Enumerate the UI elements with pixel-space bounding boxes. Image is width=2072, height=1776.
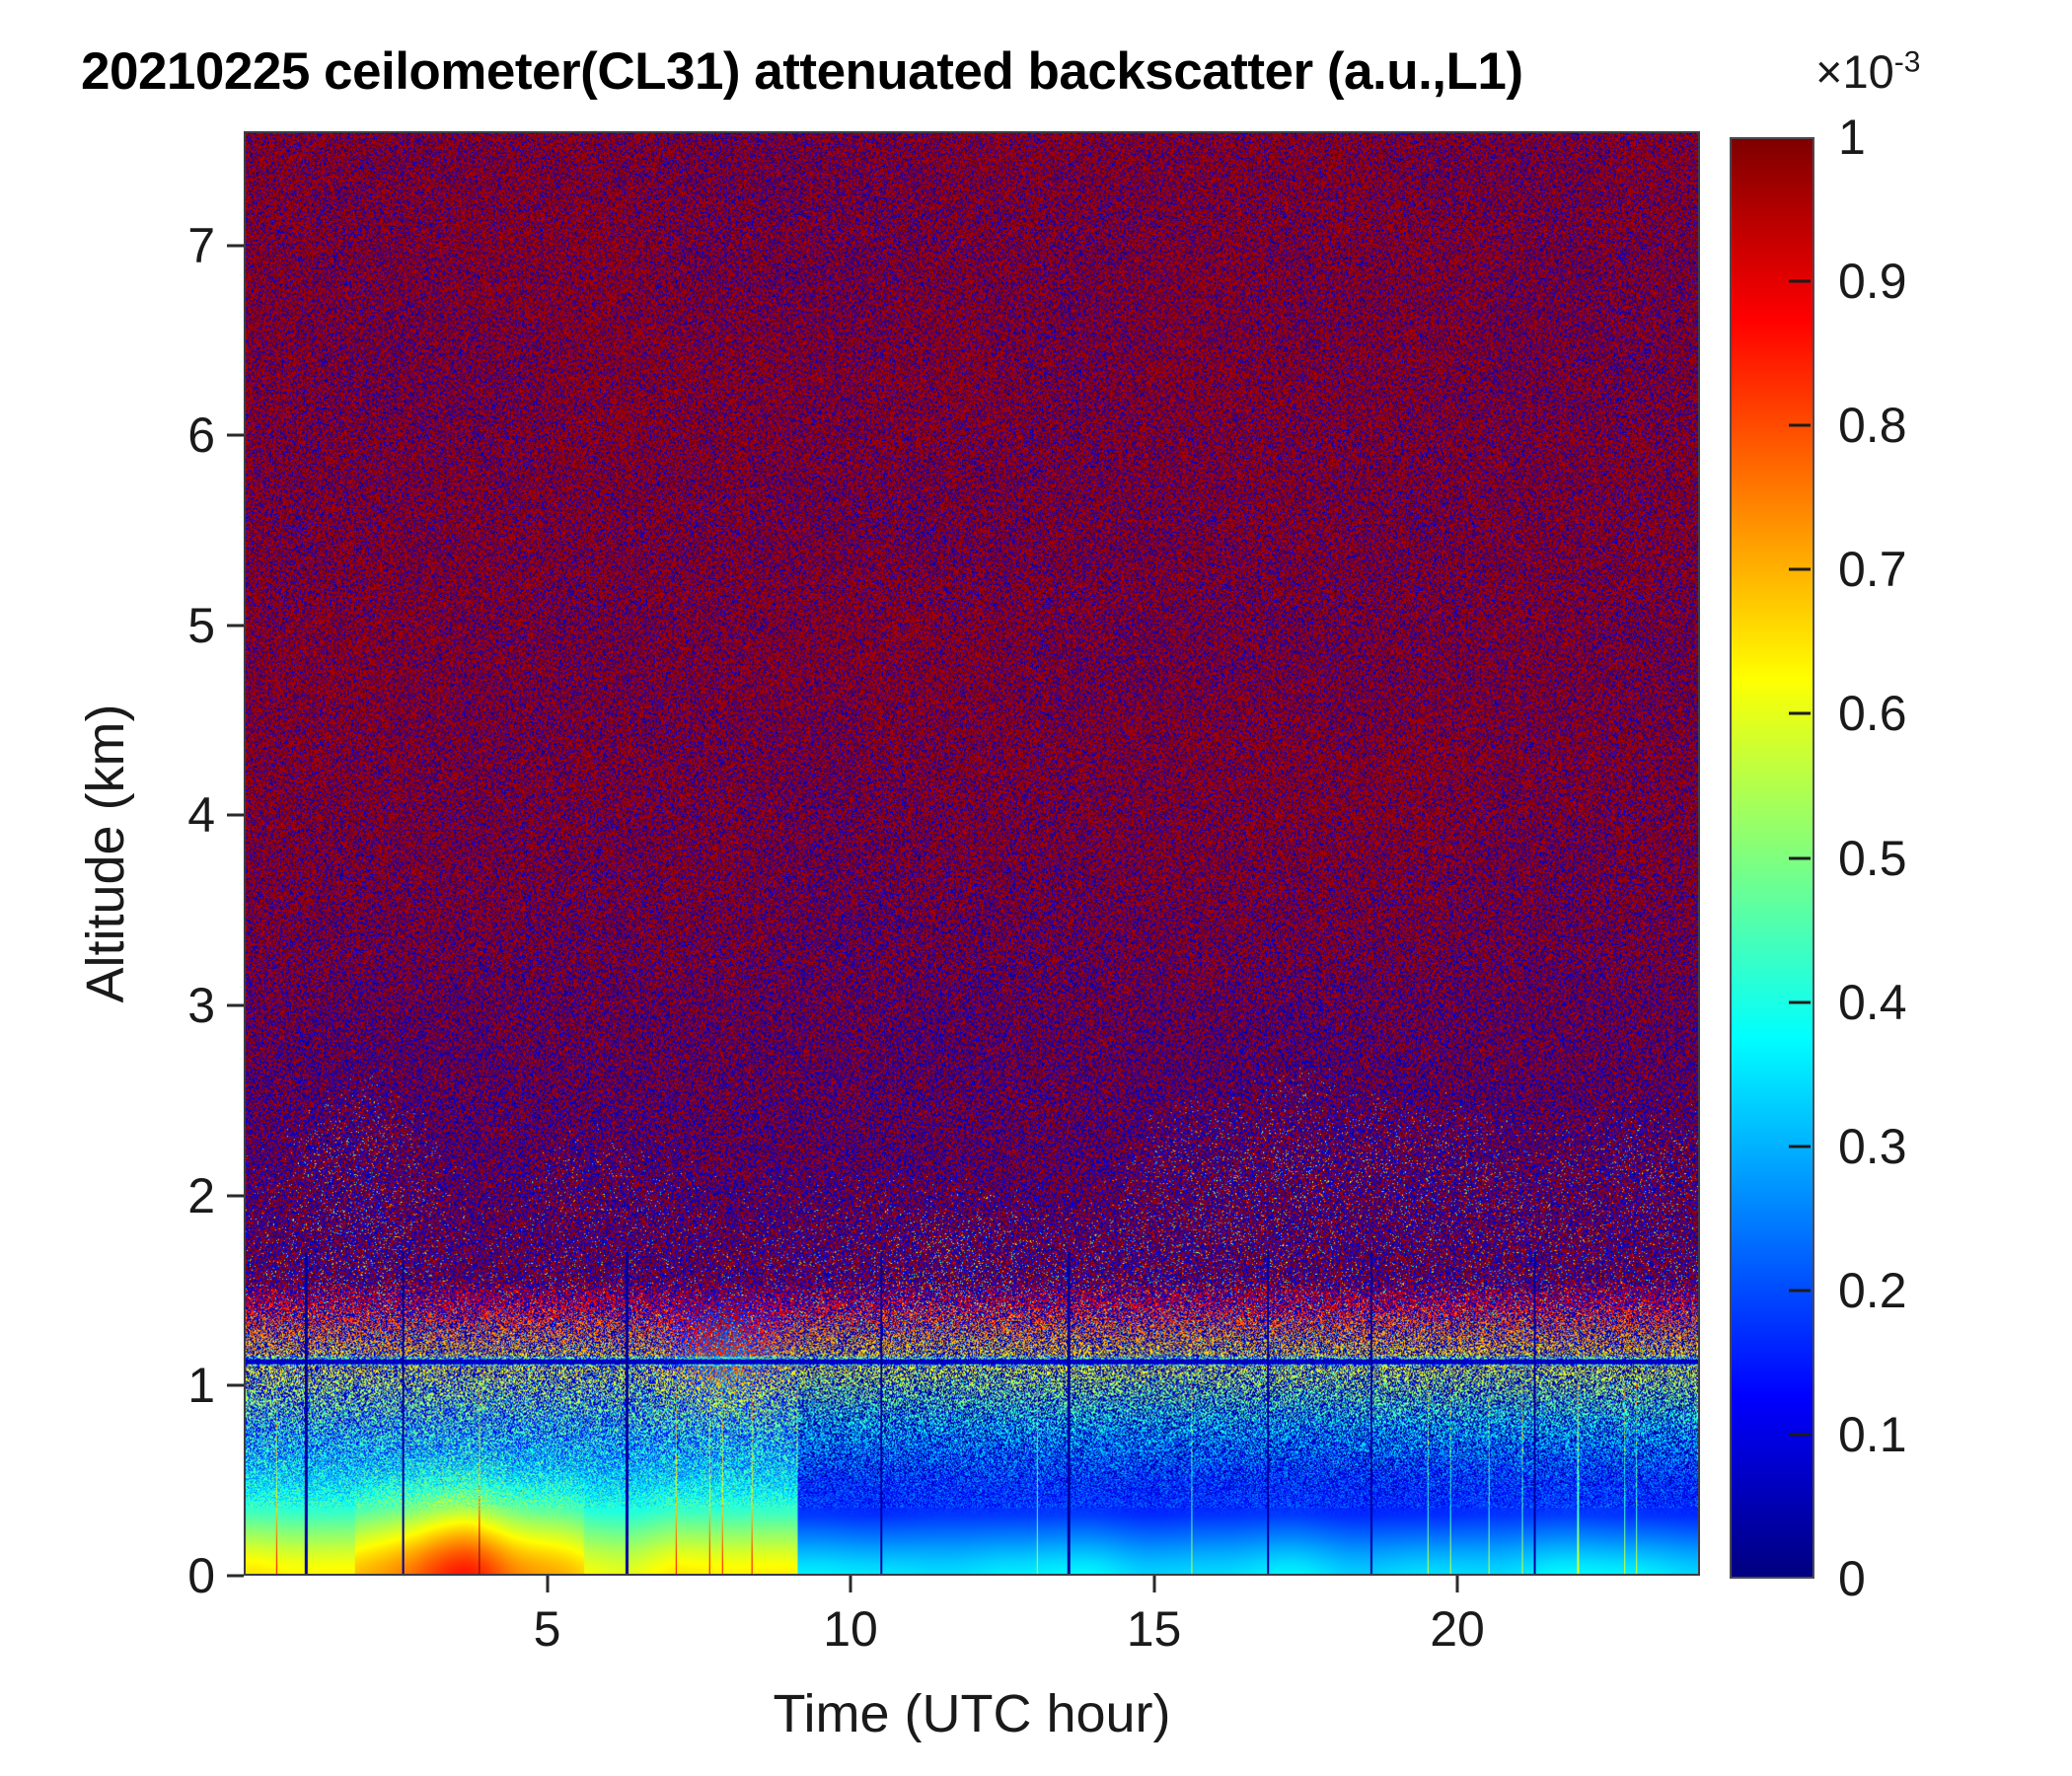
x-tick-label: 10 xyxy=(823,1600,878,1658)
y-tick-label: 0 xyxy=(187,1547,215,1604)
colorbar-tick-label: 0.8 xyxy=(1838,397,1907,454)
colorbar-tick-label: 0.5 xyxy=(1838,830,1907,887)
colorbar-tick-mark xyxy=(1789,1145,1811,1147)
backscatter-heatmap xyxy=(246,133,1698,1574)
colorbar-tick-label: 0.6 xyxy=(1838,685,1907,742)
y-tick-mark xyxy=(227,814,244,817)
colorbar-tick-label: 1 xyxy=(1838,109,1866,166)
colorbar-tick-label: 0 xyxy=(1838,1550,1866,1607)
colorbar-tick-label: 0.7 xyxy=(1838,541,1907,598)
colorbar-tick-mark xyxy=(1789,1433,1811,1436)
colorbar-exponent-label: ×10-3 xyxy=(1815,44,1920,99)
x-tick-mark xyxy=(850,1576,852,1592)
y-tick-mark xyxy=(227,244,244,247)
plot-axes xyxy=(244,131,1700,1576)
colorbar-tick-mark xyxy=(1789,856,1811,859)
y-tick-label: 2 xyxy=(187,1167,215,1224)
colorbar-tick-mark xyxy=(1789,424,1811,427)
x-tick-mark xyxy=(1152,1576,1155,1592)
y-tick-mark xyxy=(227,1194,244,1197)
colorbar-tick-mark xyxy=(1789,1000,1811,1003)
figure-root: 20210225 ceilometer(CL31) attenuated bac… xyxy=(0,0,2072,1776)
colorbar-tick-mark xyxy=(1789,280,1811,283)
page-title: 20210225 ceilometer(CL31) attenuated bac… xyxy=(81,41,1523,102)
y-axis-title: Altitude (km) xyxy=(79,131,132,1576)
x-tick-label: 5 xyxy=(534,1600,561,1658)
y-tick-label: 4 xyxy=(187,786,215,844)
colorbar-tick-label: 0.1 xyxy=(1838,1406,1907,1463)
x-tick-label: 20 xyxy=(1430,1600,1485,1658)
colorbar-tick-label: 0.9 xyxy=(1838,253,1907,310)
y-tick-label: 5 xyxy=(187,597,215,654)
colorbar-exponent-power: -3 xyxy=(1894,45,1921,78)
y-tick-mark xyxy=(227,1004,244,1007)
y-tick-mark xyxy=(227,434,244,437)
y-tick-label: 7 xyxy=(187,217,215,274)
x-tick-mark xyxy=(1456,1576,1459,1592)
y-tick-mark xyxy=(227,1575,244,1578)
y-tick-label: 3 xyxy=(187,977,215,1034)
colorbar-exponent-base: ×10 xyxy=(1815,45,1894,98)
colorbar-tick-mark xyxy=(1789,712,1811,715)
colorbar-tick-label: 0.2 xyxy=(1838,1262,1907,1319)
y-tick-mark xyxy=(227,1384,244,1387)
y-tick-label: 6 xyxy=(187,407,215,464)
x-tick-mark xyxy=(546,1576,549,1592)
colorbar-tick-label: 0.4 xyxy=(1838,974,1907,1031)
x-axis-title: Time (UTC hour) xyxy=(244,1683,1700,1744)
y-axis-tick-marks xyxy=(227,0,247,1776)
colorbar-tick-mark xyxy=(1789,568,1811,571)
colorbar-tick-mark xyxy=(1789,1289,1811,1292)
y-tick-mark xyxy=(227,624,244,627)
y-axis-tick-labels: 01234567 xyxy=(128,0,215,1776)
y-tick-label: 1 xyxy=(187,1357,215,1414)
colorbar-tick-label: 0.3 xyxy=(1838,1118,1907,1175)
x-tick-label: 15 xyxy=(1127,1600,1182,1658)
